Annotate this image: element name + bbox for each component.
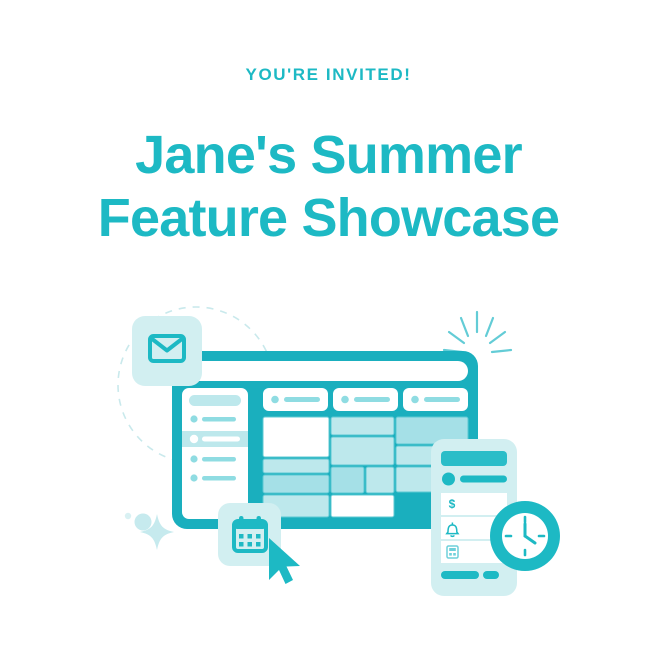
dollar-icon: $	[449, 497, 456, 511]
tile-e2[interactable]	[331, 495, 394, 517]
eyebrow-text: YOU'RE INVITED!	[246, 66, 412, 83]
tile-d2b[interactable]	[366, 467, 394, 493]
page-title-line-1: Jane's Summer	[98, 124, 559, 187]
tile-c1[interactable]	[263, 459, 329, 473]
invitation-card: YOU'RE INVITED! Jane's Summer Feature Sh…	[0, 0, 657, 660]
stat-card-3[interactable]	[403, 388, 468, 411]
decorative-dot-small	[125, 513, 131, 519]
search-bar[interactable]	[182, 361, 468, 381]
tile-d1[interactable]	[263, 475, 329, 493]
tile-a1[interactable]	[263, 417, 329, 457]
decorative-dot-large	[135, 514, 152, 531]
tile-b2[interactable]	[331, 437, 394, 465]
phone-pill-small[interactable]	[483, 571, 499, 579]
page-title: Jane's Summer Feature Showcase	[98, 124, 559, 250]
stat-card-1[interactable]	[263, 388, 328, 411]
dashboard-sidebar[interactable]	[182, 388, 248, 519]
sidebar-item-2[interactable]	[182, 431, 248, 447]
page-title-line-2: Feature Showcase	[98, 187, 559, 250]
phone-row-payments[interactable]: $	[441, 493, 507, 515]
phone-header-bar	[441, 451, 507, 466]
envelope-icon-card[interactable]	[132, 316, 202, 386]
hero-illustration: $	[0, 288, 657, 628]
mouse-cursor-pointer[interactable]	[269, 538, 300, 584]
clock-badge[interactable]	[490, 501, 560, 571]
tile-a2[interactable]	[331, 417, 394, 435]
phone-pill-wide[interactable]	[441, 571, 479, 579]
stat-card-2[interactable]	[333, 388, 398, 411]
tile-d2[interactable]	[331, 467, 364, 493]
sidebar-header-block	[189, 395, 241, 406]
